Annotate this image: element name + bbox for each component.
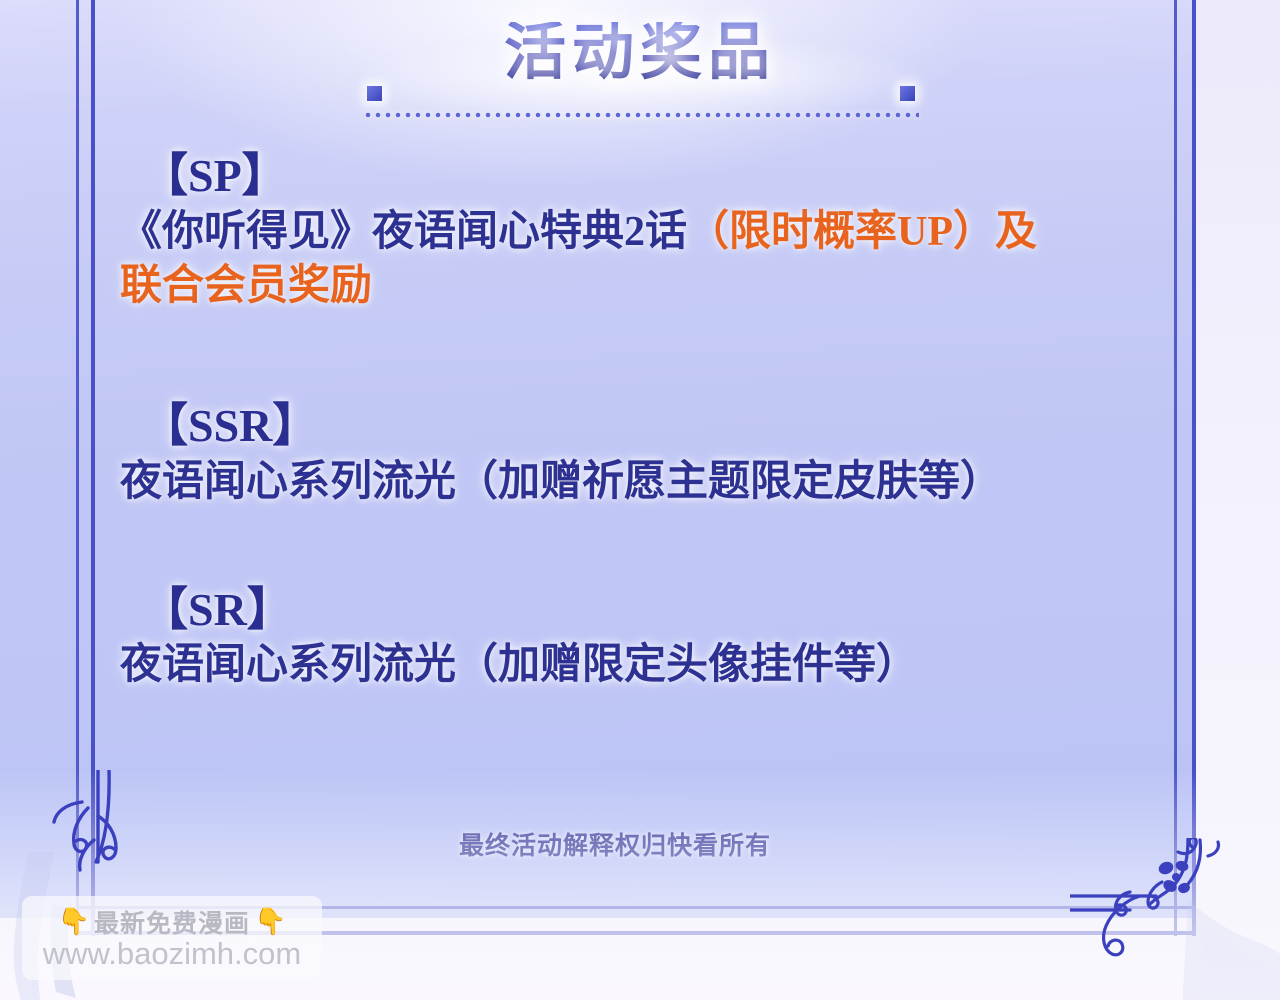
prize-description-highlight: （限时概率UP）及 bbox=[687, 209, 1037, 255]
prize-item-ssr: 【SSR】 夜语闻心系列流光（加赠祈愿主题限定皮肤等） bbox=[120, 400, 1180, 509]
pointing-down-hand-left-icon: 👇 bbox=[58, 909, 90, 935]
prize-description: 《你听得见》夜语闻心特典2话（限时概率UP）及 联合会员奖励 bbox=[120, 205, 1180, 314]
frame-right-inner-line bbox=[1192, 0, 1196, 936]
prize-tier-label: 【SSR】 bbox=[142, 400, 1180, 453]
prize-tier-label: 【SP】 bbox=[142, 150, 1180, 203]
prize-tier-label: 【SR】 bbox=[142, 584, 1180, 637]
divider-square-right-icon bbox=[900, 86, 915, 101]
watermark-url: www.baozimh.com bbox=[22, 936, 322, 972]
frame-left-inner-line bbox=[91, 0, 95, 936]
prize-list: 【SP】 《你听得见》夜语闻心特典2话（限时概率UP）及 联合会员奖励 【SSR… bbox=[120, 150, 1180, 707]
watermark-label: 最新免费漫画 bbox=[94, 904, 250, 940]
prize-item-sp: 【SP】 《你听得见》夜语闻心特典2话（限时概率UP）及 联合会员奖励 bbox=[120, 150, 1180, 314]
activity-prize-page: 活动奖品 【SP】 《你听得见》夜语闻心特典2话（限时概率UP）及 联合会员奖励… bbox=[0, 0, 1280, 1000]
title-divider bbox=[363, 86, 919, 122]
page-title-container: 活动奖品 bbox=[0, 22, 1280, 84]
prize-description: 夜语闻心系列流光（加赠限定头像挂件等） bbox=[120, 638, 1180, 693]
site-watermark: 👇 最新免费漫画 👇 www.baozimh.com bbox=[22, 896, 322, 980]
frame-left-outer-line bbox=[76, 0, 79, 936]
divider-square-left-icon bbox=[367, 86, 382, 101]
divider-dotted-line bbox=[363, 112, 919, 118]
prize-description-main: 《你听得见》夜语闻心特典2话 bbox=[120, 209, 687, 255]
prize-description: 夜语闻心系列流光（加赠祈愿主题限定皮肤等） bbox=[120, 455, 1180, 510]
prize-item-sr: 【SR】 夜语闻心系列流光（加赠限定头像挂件等） bbox=[120, 584, 1180, 693]
page-title: 活动奖品 bbox=[490, 22, 790, 84]
prize-description-highlight-2: 联合会员奖励 bbox=[120, 263, 372, 309]
disclaimer-text: 最终活动解释权归快看所有 bbox=[0, 826, 1230, 862]
pointing-down-hand-right-icon: 👇 bbox=[254, 909, 286, 935]
